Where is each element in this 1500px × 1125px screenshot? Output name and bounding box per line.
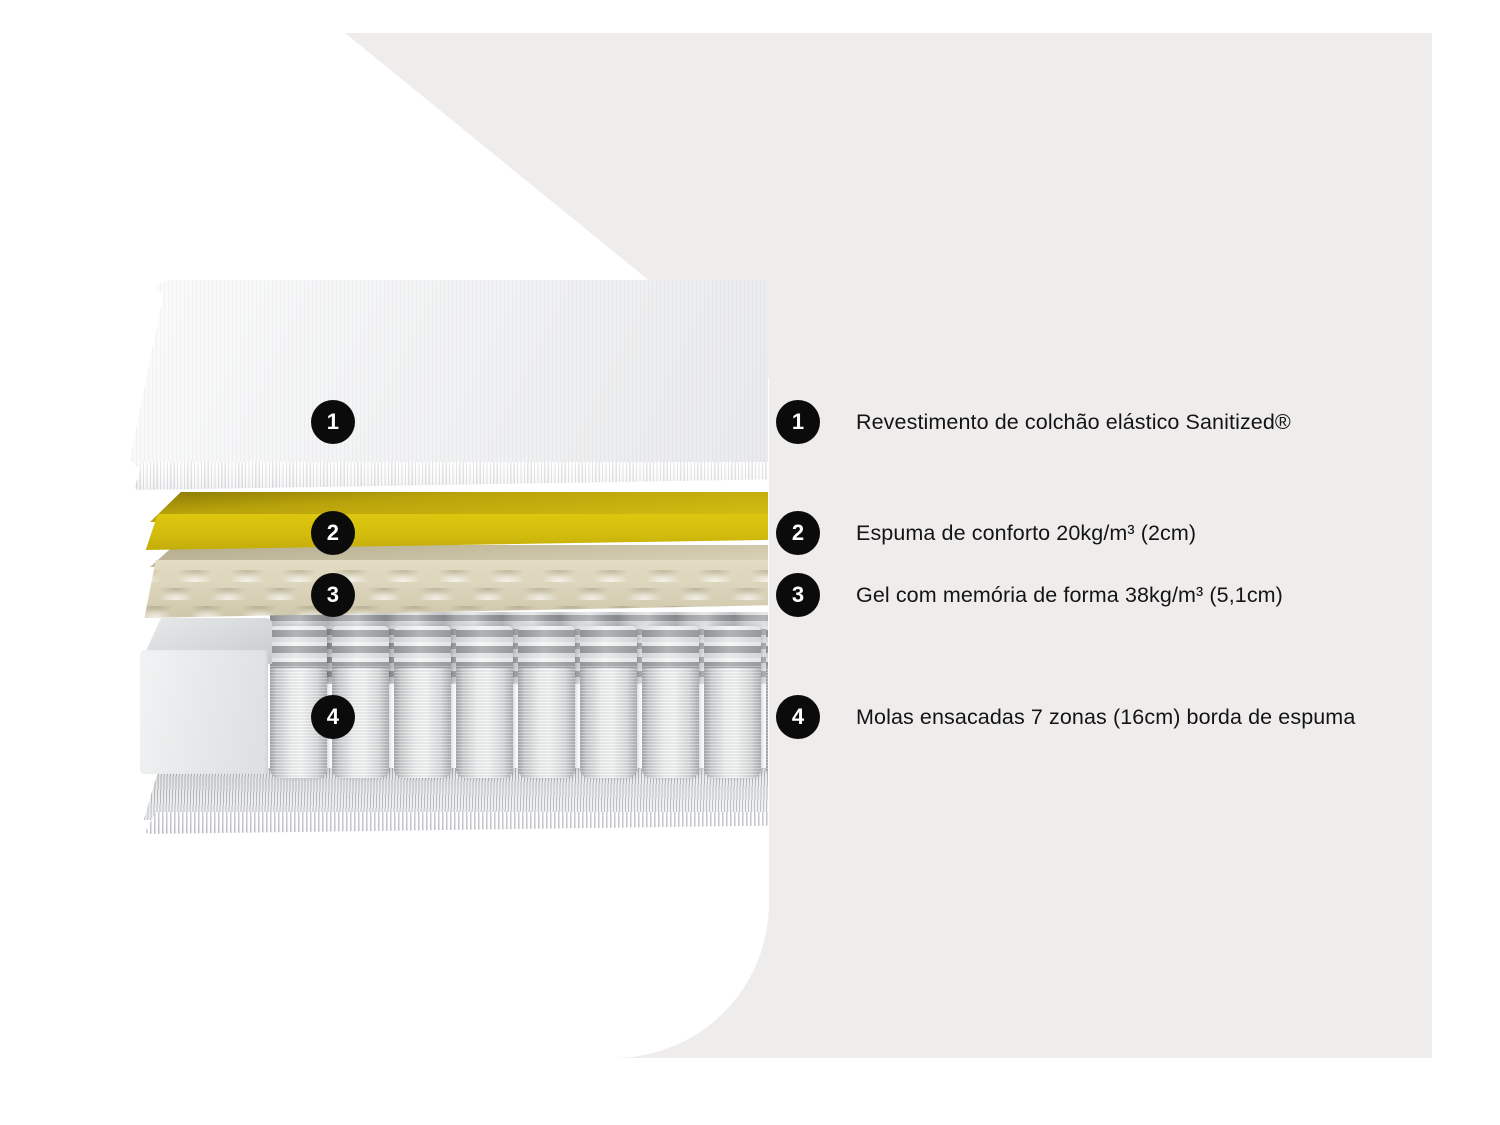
legend-label-1: Revestimento de colchão elástico Sanitiz… [856,406,1291,440]
spring-coil [580,626,637,778]
legend-label-4: Molas ensacadas 7 zonas (16cm) borda de … [856,701,1355,735]
image-badge-2[interactable]: 2 [311,511,355,555]
mattress-cover-face [126,462,768,490]
foam-wave-highlight [142,580,768,600]
legend-item-3[interactable]: 3 Gel com memória de forma 38kg/m³ (5,1c… [776,573,1283,617]
image-badge-1[interactable]: 1 [311,400,355,444]
spring-coil [456,626,513,778]
legend-item-4[interactable]: 4 Molas ensacadas 7 zonas (16cm) borda d… [776,695,1355,739]
mattress-cover-top [128,278,768,476]
legend-item-2[interactable]: 2 Espuma de conforto 20kg/m³ (2cm) [776,511,1196,555]
legend-label-3: Gel com memória de forma 38kg/m³ (5,1cm) [856,579,1283,613]
image-badge-4[interactable]: 4 [311,695,355,739]
mattress-illustration: 1 2 3 4 [0,0,769,1125]
spring-coil [518,626,575,778]
spring-coil [704,626,761,778]
spring-coil [394,626,451,778]
gel-memory-foam-face [142,560,768,618]
legend-badge-4: 4 [776,695,820,739]
legend-item-1[interactable]: 1 Revestimento de colchão elástico Sanit… [776,400,1291,444]
mattress-base-piping [138,812,768,834]
spring-coil [642,626,699,778]
spring-coil [766,626,768,778]
foam-edge-support-face [140,650,268,774]
legend-badge-3: 3 [776,573,820,617]
comfort-foam-face [142,514,768,550]
legend-badge-1: 1 [776,400,820,444]
image-badge-3[interactable]: 3 [311,573,355,617]
legend-label-2: Espuma de conforto 20kg/m³ (2cm) [856,517,1196,551]
mattress-layers-infographic: 1 2 3 4 1 Revestimento de colchão elásti… [0,0,1500,1125]
legend-badge-2: 2 [776,511,820,555]
foam-wave-highlight [142,562,768,582]
